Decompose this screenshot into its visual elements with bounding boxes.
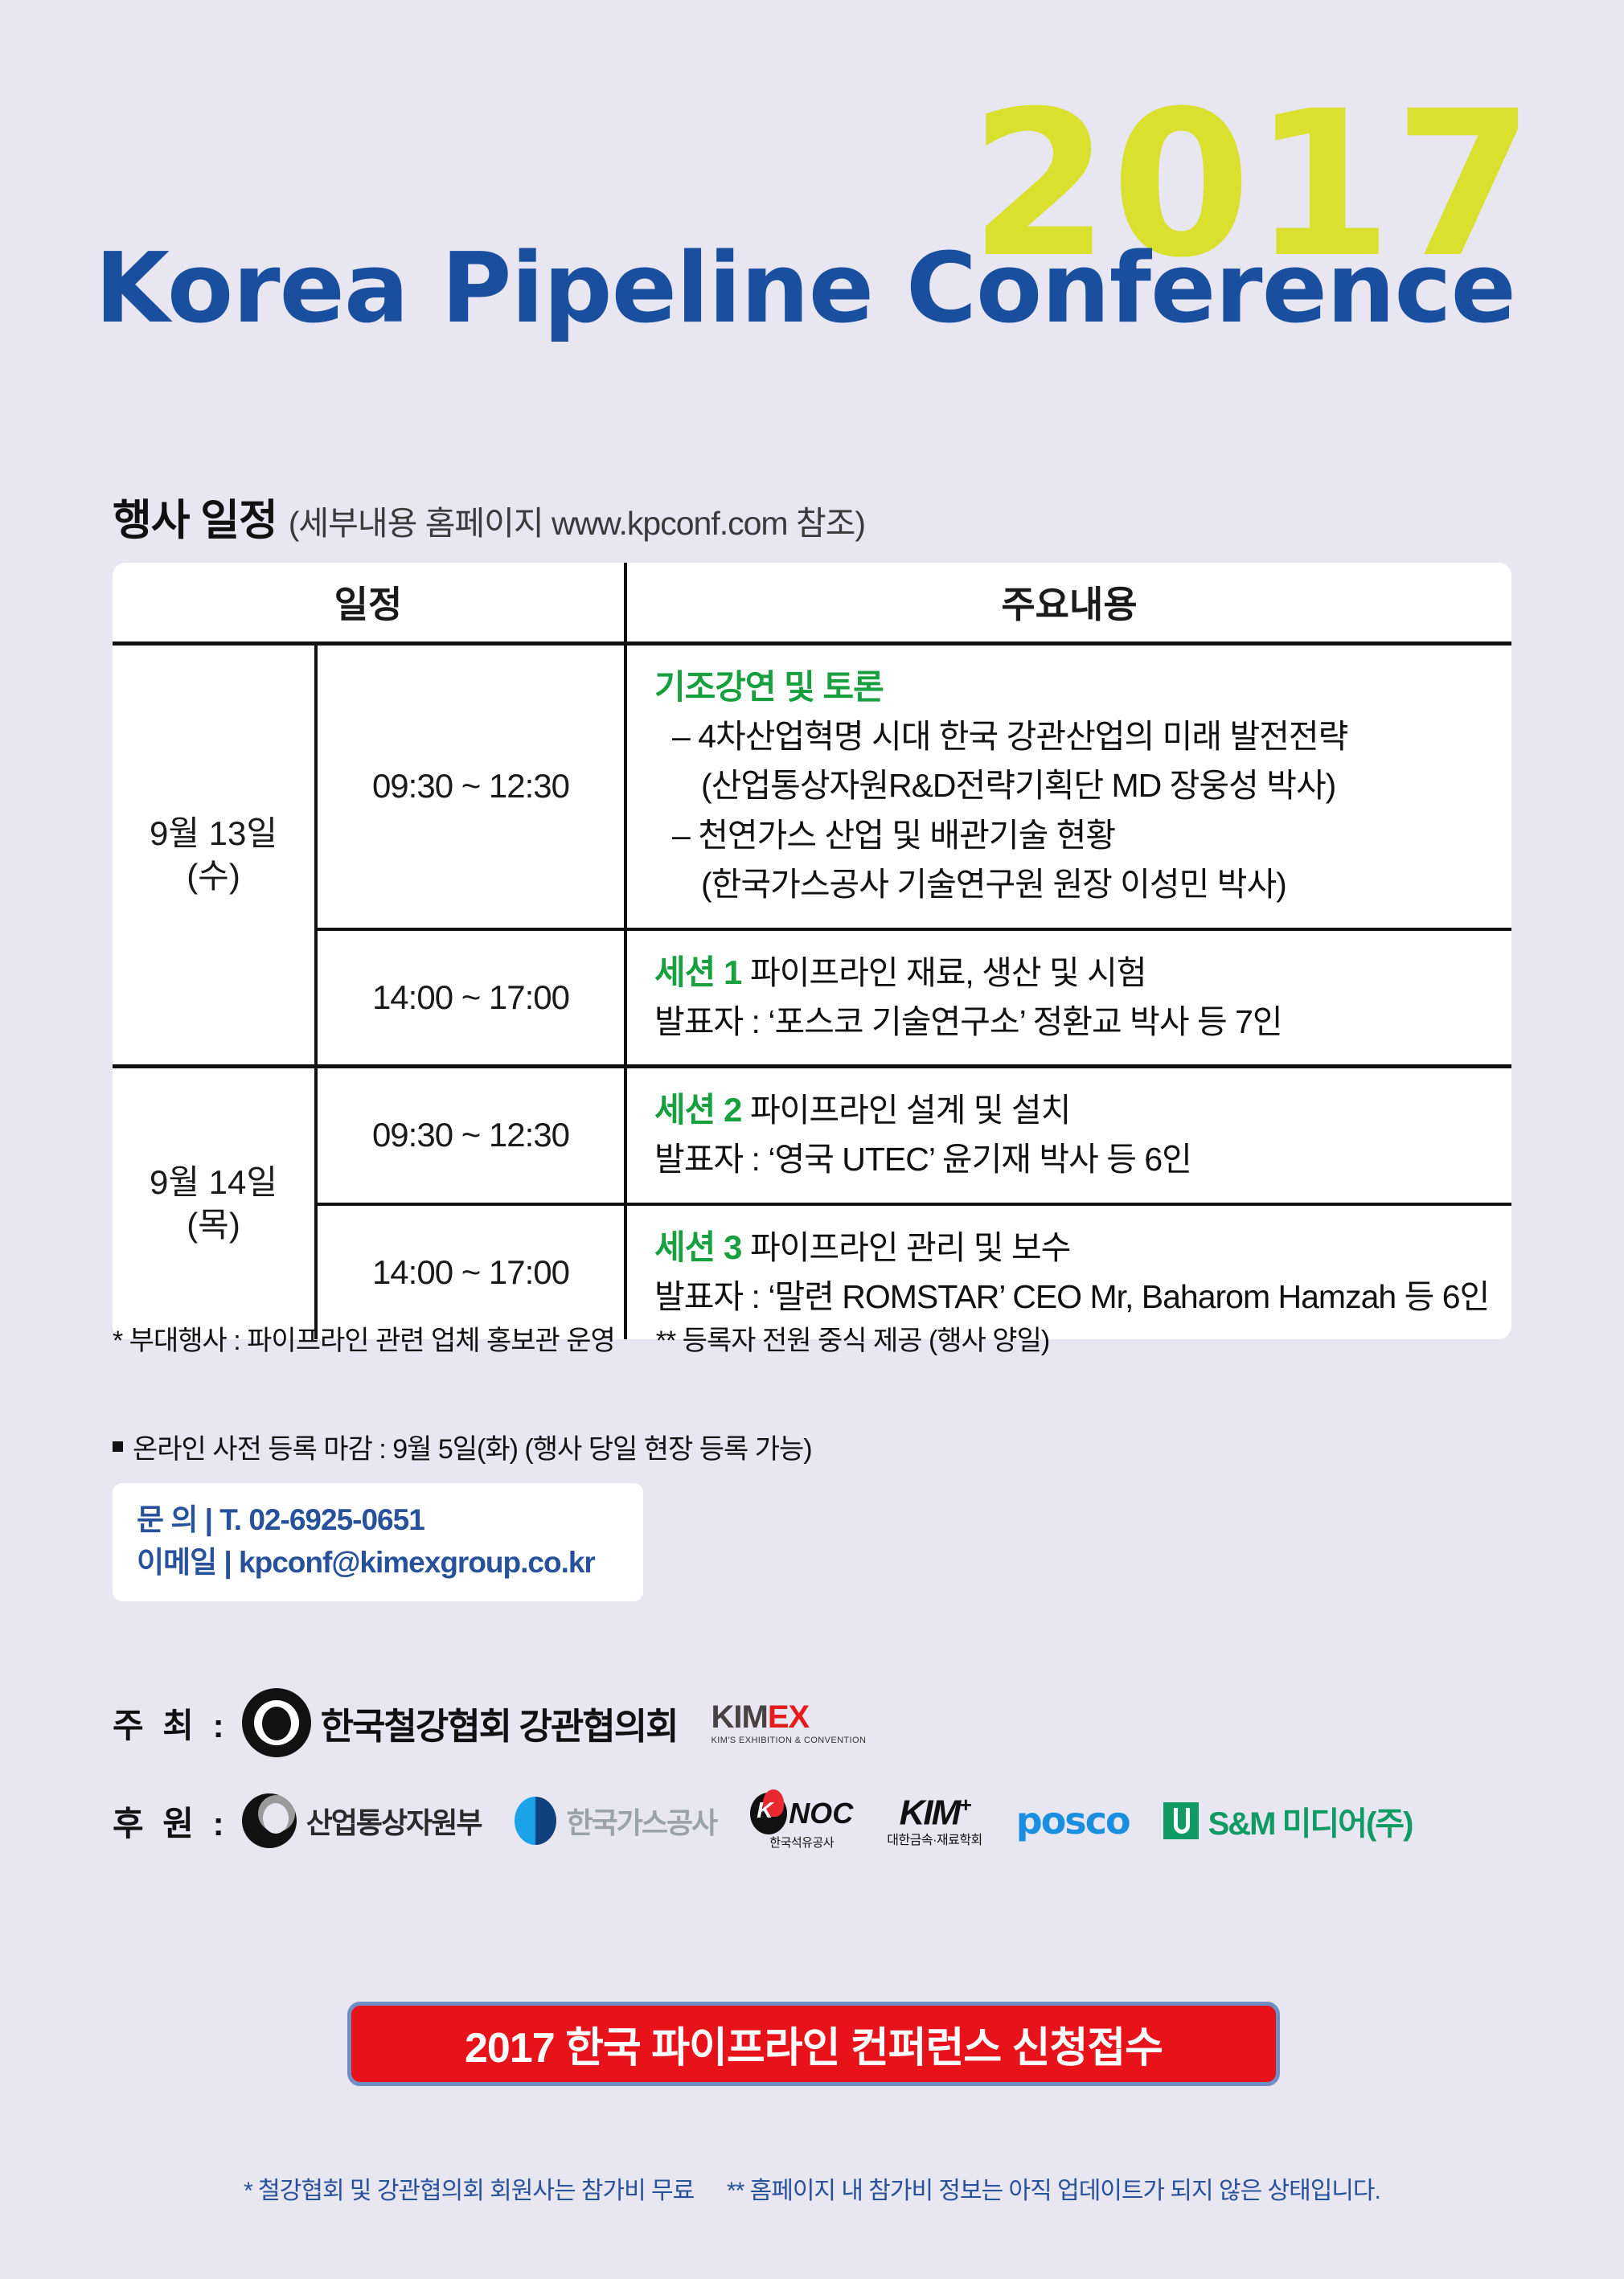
- knoc-k-icon: K NOC 한국석유공사: [750, 1793, 853, 1849]
- registration-cta-label: 2017 한국 파이프라인 컨퍼런스 신청접수: [465, 2014, 1163, 2074]
- slot-session-2: 09:30 ~ 12:30 세션 2 파이프라인 설계 및 설치 발표자 : ‘…: [318, 1068, 1511, 1202]
- slots-day2: 09:30 ~ 12:30 세션 2 파이프라인 설계 및 설치 발표자 : ‘…: [318, 1068, 1511, 1339]
- registration-cta-button[interactable]: 2017 한국 파이프라인 컨퍼런스 신청접수: [347, 2002, 1280, 2086]
- column-header-content: 주요내용: [627, 563, 1511, 641]
- slot-content: 세션 1 파이프라인 재료, 생산 및 시험 발표자 : ‘포스코 기술연구소’…: [627, 931, 1511, 1064]
- host-row: 주 최 : 한국철강협회 강관협의회 KIMEX KIM'S EXHIBITIO…: [113, 1688, 900, 1757]
- poster-header: 2017 Korea Pipeline Conference: [0, 0, 1624, 418]
- note-side-event: * 부대행사 : 파이프라인 관련 업체 홍보관 운영: [113, 1326, 615, 1356]
- sponsor-knoc: K NOC 한국석유공사: [750, 1793, 853, 1849]
- contact-email-value[interactable]: kpconf@kimexgroup.co.kr: [239, 1546, 595, 1579]
- date-line-1: 9월 13일: [150, 813, 277, 855]
- knoc-korean-name: 한국석유공사: [769, 1837, 834, 1849]
- sponsor-posco: posco: [1016, 1799, 1130, 1842]
- slot-detail-line: (산업통상자원R&D전략기획단 MD 장웅성 박사): [654, 761, 1495, 811]
- kim-plus-icon: KIM+ 대한금속·재료학회: [887, 1794, 982, 1847]
- contact-separator: |: [205, 1503, 212, 1536]
- posco-logo-icon: posco: [1016, 1799, 1130, 1842]
- contact-phone-line: 문 의 | T. 02-6925-0651: [137, 1499, 622, 1542]
- slot-time: 14:00 ~ 17:00: [318, 931, 627, 1064]
- table-row: 9월 14일 (목) 09:30 ~ 12:30 세션 2 파이프라인 설계 및…: [113, 1064, 1511, 1339]
- contact-phone-label: 문 의: [137, 1503, 197, 1536]
- date-line-1: 9월 14일: [150, 1162, 277, 1204]
- sponsor-name: S&M 미디어(주): [1208, 1797, 1413, 1844]
- slot-detail-line: 발표자 : ‘영국 UTEC’ 윤기재 박사 등 6인: [654, 1135, 1495, 1185]
- slot-detail-line: – 천연가스 산업 및 배관기술 현황: [654, 811, 1495, 861]
- page-title: Korea Pipeline Conference: [95, 241, 1515, 338]
- slot-detail-line: 발표자 : ‘말련 ROMSTAR’ CEO Mr, Baharom Hamza…: [654, 1273, 1495, 1322]
- sponsor-motie: 산업통상자원부: [242, 1793, 482, 1848]
- kim-name: KIM: [900, 1793, 960, 1833]
- session-label: 세션 3: [654, 1228, 741, 1266]
- slot-title: 세션 3 파이프라인 관리 및 보수: [654, 1224, 1495, 1273]
- slot-title: 세션 2 파이프라인 설계 및 설치: [654, 1086, 1495, 1135]
- date-cell-day1: 9월 13일 (수): [113, 646, 318, 1064]
- slot-title: 세션 1 파이프라인 재료, 생산 및 시험: [654, 949, 1495, 998]
- date-line-2: (수): [187, 855, 240, 898]
- note-side-event-row: * 부대행사 : 파이프라인 관련 업체 홍보관 운영 ** 등록자 전원 중식…: [113, 1318, 1049, 1358]
- schedule-heading: 행사 일정 (세부내용 홈페이지 www.kpconf.com 참조): [113, 486, 865, 547]
- session-label: 세션 1: [654, 953, 741, 991]
- kimex-tagline: KIM'S EXHIBITION & CONVENTION: [712, 1736, 867, 1745]
- session-topic: 파이프라인 재료, 생산 및 시험: [750, 954, 1146, 991]
- korea-iron-steel-association-seal-icon: [242, 1688, 311, 1757]
- sponsor-kogas: 한국가스공사: [515, 1797, 716, 1845]
- host-name: 한국철강협회 강관협의회: [321, 1697, 678, 1749]
- schedule-table: 일정 주요내용 9월 13일 (수) 09:30 ~ 12:30 기조강연 및 …: [113, 563, 1511, 1339]
- sponsor-name: NOC: [789, 1799, 853, 1828]
- footer-note-1: * 철강협회 및 강관협의회 회원사는 참가비 무료: [244, 2178, 694, 2204]
- sponsor-name: 한국가스공사: [566, 1800, 716, 1842]
- note-registration-row: 온라인 사전 등록 마감 : 9월 5일(화) (행사 당일 현장 등록 가능): [113, 1427, 812, 1466]
- contact-box: 문 의 | T. 02-6925-0651 이메일 | kpconf@kimex…: [113, 1483, 643, 1601]
- slot-content: 기조강연 및 토론 – 4차산업혁명 시대 한국 강관산업의 미래 발전전략 (…: [627, 646, 1511, 928]
- schedule-heading-note: (세부내용 홈페이지 www.kpconf.com 참조): [289, 496, 865, 544]
- slot-detail-line: – 4차산업혁명 시대 한국 강관산업의 미래 발전전략: [654, 712, 1495, 762]
- column-header-date: 일정: [113, 563, 627, 641]
- sponsor-label: 후 원 :: [113, 1797, 229, 1846]
- knoc-k-letter: K: [757, 1799, 773, 1822]
- date-line-2: (목): [187, 1204, 240, 1247]
- slot-time: 09:30 ~ 12:30: [318, 646, 627, 928]
- kim-plus-sup: +: [959, 1793, 970, 1817]
- contact-separator: |: [224, 1546, 231, 1579]
- kimex-logo-icon: KIMEX KIM'S EXHIBITION & CONVENTION: [712, 1701, 867, 1745]
- schedule-heading-main: 행사 일정: [113, 486, 277, 547]
- kimex-name-part1: KIM: [712, 1699, 768, 1735]
- footer-notes: * 철강협회 및 강관협의회 회원사는 참가비 무료 ** 홈페이지 내 참가비…: [0, 2170, 1624, 2206]
- host-label: 주 최 :: [113, 1699, 229, 1748]
- kim-korean-name: 대한금속·재료학회: [887, 1834, 982, 1847]
- table-row: 9월 13일 (수) 09:30 ~ 12:30 기조강연 및 토론 – 4차산…: [113, 646, 1511, 1064]
- knoc-badge-icon: K: [750, 1793, 787, 1834]
- session-topic: 파이프라인 설계 및 설치: [750, 1092, 1070, 1129]
- sponsor-row: 후 원 : 산업통상자원부 한국가스공사 K NOC 한국석유공사 KIM+ 대…: [113, 1793, 1446, 1849]
- slots-day1: 09:30 ~ 12:30 기조강연 및 토론 – 4차산업혁명 시대 한국 강…: [318, 646, 1511, 1064]
- slot-detail-line: (한국가스공사 기술연구원 원장 이성민 박사): [654, 860, 1495, 910]
- sponsor-kim: KIM+ 대한금속·재료학회: [887, 1794, 982, 1847]
- table-header-row: 일정 주요내용: [113, 563, 1511, 646]
- note-lunch: ** 등록자 전원 중식 제공 (행사 양일): [656, 1326, 1049, 1356]
- session-label: 세션 2: [654, 1091, 741, 1129]
- contact-phone-value: T. 02-6925-0651: [219, 1503, 424, 1536]
- slot-title: 기조강연 및 토론: [654, 663, 1495, 712]
- bullet-square-icon: [113, 1441, 123, 1452]
- sponsor-sm-media: S&M 미디어(주): [1163, 1797, 1413, 1844]
- slot-content: 세션 2 파이프라인 설계 및 설치 발표자 : ‘영국 UTEC’ 윤기재 박…: [627, 1068, 1511, 1202]
- contact-email-line: 이메일 | kpconf@kimexgroup.co.kr: [137, 1542, 622, 1584]
- table-body: 9월 13일 (수) 09:30 ~ 12:30 기조강연 및 토론 – 4차산…: [113, 646, 1511, 1339]
- motie-taegeuk-icon: [242, 1793, 297, 1848]
- date-cell-day2: 9월 14일 (목): [113, 1068, 318, 1339]
- session-topic: 파이프라인 관리 및 보수: [750, 1229, 1070, 1266]
- sm-media-icon: [1163, 1802, 1199, 1839]
- host-korea-iron-steel-association: 한국철강협회 강관협의회: [242, 1688, 678, 1757]
- slot-keynote: 09:30 ~ 12:30 기조강연 및 토론 – 4차산업혁명 시대 한국 강…: [318, 646, 1511, 928]
- slot-detail-line: 발표자 : ‘포스코 기술연구소’ 정환교 박사 등 7인: [654, 998, 1495, 1047]
- host-kimex: KIMEX KIM'S EXHIBITION & CONVENTION: [712, 1701, 867, 1745]
- kogas-leaf-icon: [515, 1797, 556, 1845]
- kimex-name-part2: EX: [768, 1699, 809, 1735]
- contact-email-label: 이메일: [137, 1546, 216, 1579]
- sponsor-name: 산업통상자원부: [306, 1800, 482, 1842]
- slot-session-1: 14:00 ~ 17:00 세션 1 파이프라인 재료, 생산 및 시험 발표자…: [318, 928, 1511, 1064]
- slot-time: 09:30 ~ 12:30: [318, 1068, 627, 1202]
- footer-note-2: ** 홈페이지 내 참가비 정보는 아직 업데이트가 되지 않은 상태입니다.: [727, 2178, 1380, 2204]
- note-registration-deadline: 온라인 사전 등록 마감 : 9월 5일(화) (행사 당일 현장 등록 가능): [133, 1427, 812, 1466]
